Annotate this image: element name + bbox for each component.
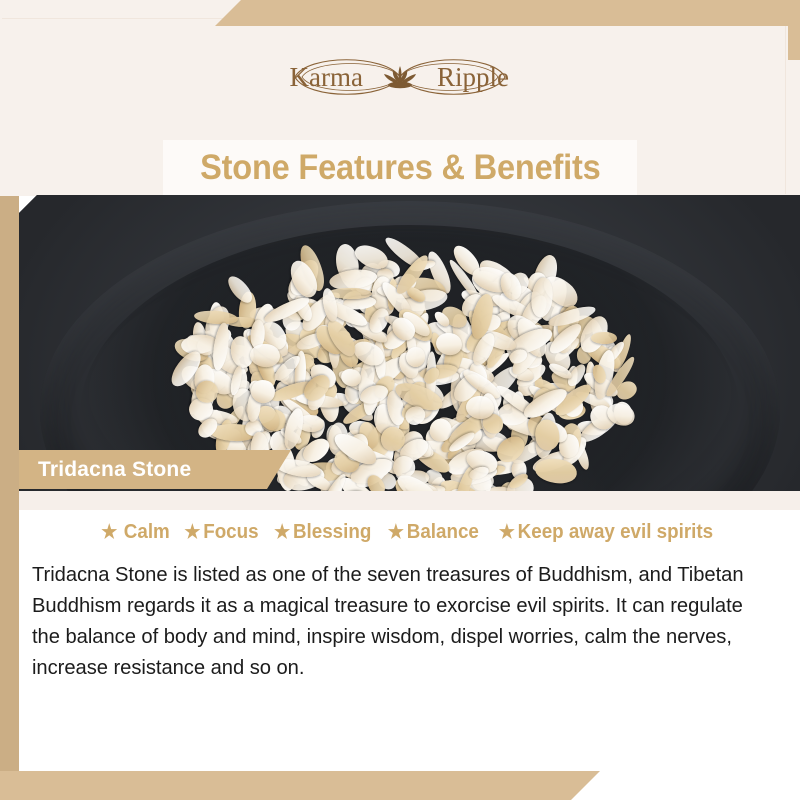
star-icon: ★ <box>185 523 201 542</box>
photo-caption-banner: Tridacna Stone <box>19 450 291 489</box>
product-photo <box>19 195 800 491</box>
decor-bottom-bar <box>0 771 600 800</box>
content-section: ★Calm★Focus★Blessing★Balance★Keep away e… <box>19 510 800 771</box>
page-title: Stone Features & Benefits <box>200 148 601 188</box>
benefit-label: Focus <box>204 521 259 544</box>
decor-right-edge-bar <box>788 0 800 60</box>
photo-caption-label: Tridacna Stone <box>38 458 191 482</box>
benefits-row: ★Calm★Focus★Blessing★Balance★Keep away e… <box>19 510 800 544</box>
content-separator <box>19 491 800 510</box>
benefit-label: Blessing <box>293 521 371 544</box>
benefit-item: ★Keep away evil spirits <box>498 521 712 544</box>
decor-left-edge-bar <box>0 196 19 771</box>
benefit-label: Balance <box>407 521 479 544</box>
star-icon: ★ <box>498 523 514 542</box>
star-icon: ★ <box>388 523 404 542</box>
benefit-item: ★Focus <box>185 521 259 544</box>
brand-logo: Karma Ripple <box>0 48 800 106</box>
logo-word-right: Ripple <box>437 62 509 92</box>
decor-top-right-bar <box>215 0 800 26</box>
product-info-poster: Karma Ripple Stone Features & Benefits T… <box>0 0 800 800</box>
star-icon: ★ <box>274 523 290 542</box>
page-title-band: Stone Features & Benefits <box>163 140 637 196</box>
star-icon: ★ <box>102 523 118 542</box>
logo-word-left: Karma <box>290 62 363 92</box>
description-paragraph: Tridacna Stone is listed as one of the s… <box>32 559 776 683</box>
benefit-label: Keep away evil spirits <box>517 521 712 544</box>
karma-ripple-logo-mark: Karma Ripple <box>235 48 565 106</box>
benefit-item: ★Blessing <box>274 521 371 544</box>
benefit-item: ★Balance <box>388 521 479 544</box>
benefit-label: Calm <box>124 521 170 544</box>
benefit-item: ★Calm <box>102 521 171 544</box>
stone-chip <box>591 332 617 344</box>
